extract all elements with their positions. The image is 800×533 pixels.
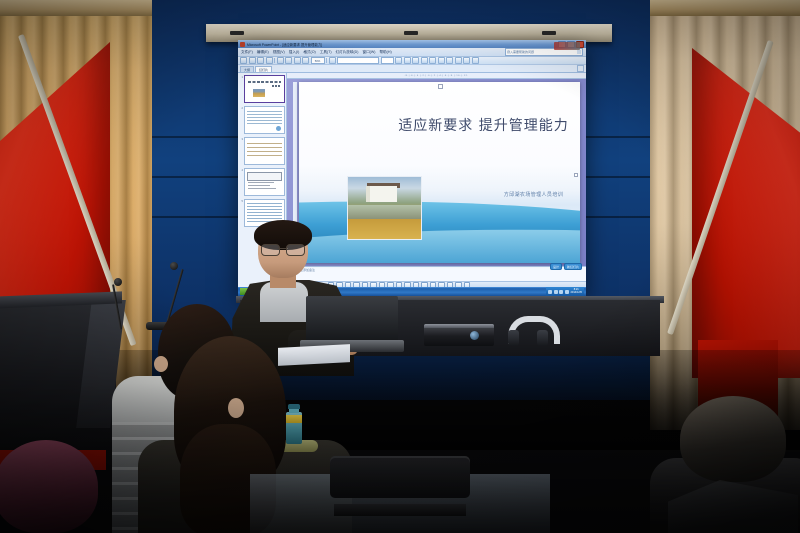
toolbar-separator bbox=[274, 58, 275, 63]
curtain-rod-left bbox=[0, 0, 152, 16]
projector-top bbox=[424, 324, 494, 328]
ruler-ticks: ·8·|·6·|·4·|·2·|·0·|·2·|·4·|·6·|·8·|·10·… bbox=[404, 75, 469, 77]
headphone-cup bbox=[537, 330, 548, 346]
menu-item-insert[interactable]: 插入(I) bbox=[289, 50, 300, 55]
outline-slides-tabs[interactable]: 大纲 幻灯片 bbox=[238, 65, 586, 73]
system-tray[interactable]: 8:21 2014/12/5 bbox=[546, 287, 584, 296]
numbering-icon[interactable] bbox=[463, 57, 470, 64]
water-bottle bbox=[286, 404, 302, 444]
menu-item-format[interactable]: 格式(O) bbox=[303, 50, 315, 55]
help-icon[interactable] bbox=[329, 57, 336, 64]
thumb-title-line bbox=[248, 81, 281, 83]
tab-outline[interactable]: 大纲 bbox=[240, 66, 254, 72]
task-pane-buttons[interactable]: 设计 新幻灯片 bbox=[550, 263, 582, 270]
chevron-down-icon[interactable] bbox=[577, 50, 581, 54]
menu-item-file[interactable]: 文件(F) bbox=[241, 50, 253, 55]
standard-toolbar[interactable]: 50% bbox=[238, 57, 586, 65]
screen-brand-logo bbox=[554, 42, 580, 50]
glasses-lens bbox=[261, 244, 280, 256]
menu-item-help[interactable]: 帮助(H) bbox=[379, 50, 391, 55]
curtain-rod-right bbox=[650, 0, 800, 16]
audience-member-foreground-right bbox=[650, 396, 800, 533]
window-title: Microsoft PowerPoint - [适应新要求 提升管理能力] bbox=[247, 42, 322, 47]
zoom-level-input[interactable]: 50% bbox=[311, 57, 325, 64]
audience-member-foreground-left bbox=[0, 440, 104, 533]
slide-photo[interactable] bbox=[347, 176, 422, 240]
slide-thumbnail-2[interactable]: 2 bbox=[239, 106, 285, 134]
slide-title[interactable]: 适应新要求 提升管理能力 bbox=[324, 118, 568, 135]
thumb-text-line bbox=[247, 120, 282, 121]
glasses-lens bbox=[286, 244, 305, 256]
thumb-text-line bbox=[247, 114, 282, 115]
projector bbox=[424, 324, 494, 346]
bottle-label bbox=[286, 415, 302, 423]
italic-icon[interactable] bbox=[404, 57, 411, 64]
microphone-head bbox=[170, 262, 178, 270]
open-icon[interactable] bbox=[249, 57, 256, 64]
selection-handle[interactable] bbox=[574, 173, 579, 178]
menu-item-slideshow[interactable]: 幻灯片放映(D) bbox=[336, 50, 359, 55]
thumb-text-line bbox=[248, 185, 270, 186]
thumb-text-line bbox=[247, 209, 282, 210]
shadow-icon[interactable] bbox=[421, 57, 428, 64]
toolbar-separator bbox=[326, 58, 327, 63]
align-left-icon[interactable] bbox=[429, 57, 436, 64]
thumbnail-number: 4 bbox=[239, 168, 243, 172]
thumbnail-preview[interactable] bbox=[244, 137, 285, 165]
thumb-text-line bbox=[247, 218, 282, 219]
ime-icon[interactable] bbox=[559, 290, 563, 294]
menu-item-view[interactable]: 视图(V) bbox=[273, 50, 285, 55]
bold-icon[interactable] bbox=[395, 57, 402, 64]
thumb-text-line bbox=[247, 155, 282, 156]
menu-item-edit[interactable]: 编辑(E) bbox=[257, 50, 269, 55]
align-right-icon[interactable] bbox=[446, 57, 453, 64]
thumb-text-line bbox=[247, 203, 282, 204]
taskbar-clock[interactable]: 8:21 2014/12/5 bbox=[570, 289, 582, 294]
design-button[interactable]: 设计 bbox=[550, 263, 562, 270]
chair-seat bbox=[334, 504, 466, 516]
thumbnail-number: 2 bbox=[239, 106, 243, 110]
tab-slides[interactable]: 幻灯片 bbox=[255, 66, 272, 72]
projector-lens-icon bbox=[470, 331, 479, 340]
font-name-input[interactable] bbox=[337, 57, 379, 64]
conference-room-scene: Microsoft PowerPoint - [适应新要求 提升管理能力] 文件… bbox=[0, 0, 800, 533]
housing-slot bbox=[542, 31, 556, 35]
thumb-photo bbox=[253, 89, 265, 97]
photo-reflection bbox=[348, 205, 421, 219]
headphones bbox=[508, 316, 548, 346]
thumb-text-line bbox=[247, 123, 282, 124]
powerpoint-app-icon bbox=[240, 42, 245, 47]
slide-thumbnail-3[interactable]: 3 bbox=[239, 137, 285, 165]
slide-thumbnail-4[interactable]: 4 bbox=[239, 168, 285, 196]
paste-icon[interactable] bbox=[294, 57, 301, 64]
thumbnail-preview[interactable] bbox=[244, 106, 285, 134]
new-icon[interactable] bbox=[240, 57, 247, 64]
microphone-head bbox=[114, 278, 122, 286]
chair-back bbox=[330, 456, 470, 498]
thumbnail-number: 1 bbox=[239, 75, 243, 79]
thumb-shape bbox=[276, 126, 281, 131]
slide-subtitle[interactable]: 方邱湖农场管理人员培训 bbox=[504, 191, 563, 198]
glasses-icon bbox=[261, 244, 305, 254]
window-titlebar: Microsoft PowerPoint - [适应新要求 提升管理能力] bbox=[238, 40, 586, 48]
antivirus-icon[interactable] bbox=[565, 290, 569, 294]
thumb-text-line bbox=[248, 182, 274, 183]
clock-date: 2014/12/5 bbox=[570, 292, 582, 295]
thumb-text-line bbox=[247, 117, 282, 118]
empty-chair bbox=[330, 456, 470, 533]
photo-house bbox=[370, 186, 398, 202]
network-icon[interactable] bbox=[548, 290, 552, 294]
headphone-cup bbox=[508, 330, 519, 346]
thumb-text-line bbox=[247, 143, 282, 144]
thumb-text-line bbox=[247, 206, 282, 207]
thumb-box bbox=[247, 172, 282, 181]
font-color-icon[interactable] bbox=[472, 57, 479, 64]
font-size-input[interactable] bbox=[381, 57, 394, 64]
underline-icon[interactable] bbox=[412, 57, 419, 64]
audience-hair bbox=[680, 396, 786, 482]
thumb-text-line bbox=[247, 151, 282, 152]
thumb-text-line bbox=[247, 215, 282, 216]
new-slide-button[interactable]: 新幻灯片 bbox=[564, 263, 582, 270]
thumbnail-number: 5 bbox=[239, 199, 243, 203]
menu-bar[interactable]: 文件(F) 编辑(E) 视图(V) 插入(I) 格式(O) 工具(T) 幻灯片放… bbox=[238, 48, 586, 57]
slide-thumbnail-1[interactable]: 1 bbox=[239, 75, 285, 103]
housing-slot bbox=[404, 31, 418, 35]
selection-handle[interactable] bbox=[438, 84, 443, 89]
print-icon[interactable] bbox=[266, 57, 273, 64]
close-pane-button[interactable] bbox=[577, 65, 584, 72]
ask-a-question-placeholder: 键入需要帮助的问题 bbox=[507, 50, 534, 54]
thumb-text-line bbox=[247, 111, 282, 112]
bottle-cap bbox=[288, 404, 300, 409]
cut-icon[interactable] bbox=[277, 57, 284, 64]
align-center-icon[interactable] bbox=[438, 57, 445, 64]
save-icon[interactable] bbox=[257, 57, 264, 64]
thumbnail-preview[interactable] bbox=[244, 168, 285, 196]
thumb-subtitle-line bbox=[272, 85, 280, 87]
thumb-text-line bbox=[247, 147, 282, 148]
thumbnail-preview[interactable] bbox=[244, 75, 285, 103]
thumbnail-number: 3 bbox=[239, 137, 243, 141]
volume-icon[interactable] bbox=[554, 290, 558, 294]
audience-ear bbox=[228, 398, 244, 418]
menu-item-tools[interactable]: 工具(T) bbox=[320, 50, 332, 55]
bullets-icon[interactable] bbox=[455, 57, 462, 64]
undo-icon[interactable] bbox=[302, 57, 309, 64]
copy-icon[interactable] bbox=[285, 57, 292, 64]
audience-hat bbox=[0, 440, 98, 533]
housing-slot bbox=[230, 31, 244, 35]
menu-item-window[interactable]: 窗口(W) bbox=[362, 50, 375, 55]
thumb-text-line bbox=[247, 212, 282, 213]
thumb-text-line bbox=[248, 188, 276, 189]
